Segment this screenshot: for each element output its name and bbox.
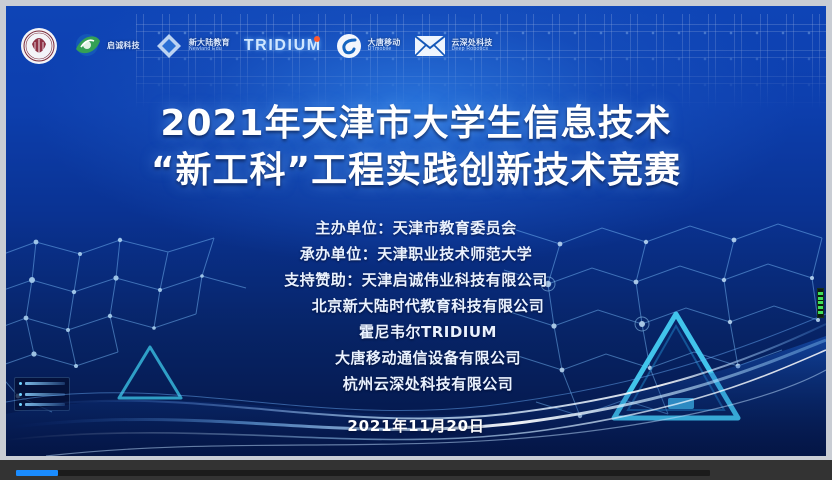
status-segment (818, 292, 823, 295)
screen: 启诚科技 新大陆教育 Newland Edu TRIDIUM (0, 0, 832, 480)
envelope-mark-icon (414, 35, 446, 57)
playback-progress-fill (16, 470, 58, 476)
university-seal-icon (20, 27, 58, 65)
status-segment (818, 301, 823, 304)
slide-credits-block: 主办单位：天津市教育委员会 承办单位：天津职业技术师范大学 支持赞助：天津启诚伟… (6, 215, 826, 436)
status-segment (818, 311, 823, 314)
slide-canvas: 启诚科技 新大陆教育 Newland Edu TRIDIUM (6, 6, 826, 456)
status-segment (818, 297, 823, 300)
credit-line-sponsor-5: 杭州云深处科技有限公司 (6, 371, 826, 397)
slide-title-line-2: “新工科”工程实践创新技术竞赛 (6, 148, 826, 194)
slide-title-line-1: 2021年天津市大学生信息技术 (6, 102, 826, 146)
credit-line-sponsor: 支持赞助：天津启诚伟业科技有限公司 (6, 267, 826, 293)
credit-line-sponsor-3: 霍尼韦尔TRIDIUM (6, 319, 826, 345)
logo-label-en: Newland Edu (189, 47, 230, 52)
sponsor-logo-bar: 启诚科技 新大陆教育 Newland Edu TRIDIUM (6, 20, 826, 72)
credit-line-organizer: 主办单位：天津市教育委员会 (6, 215, 826, 241)
logo-tridium: TRIDIUM (244, 26, 321, 66)
slide-frame: 启诚科技 新大陆教育 Newland Edu TRIDIUM (0, 0, 832, 460)
logo-label-en: Deep Robotics (451, 47, 492, 52)
credit-line-sponsor-2: 北京新大陆时代教育科技有限公司 (6, 293, 826, 319)
logo-qicheng-text: 启诚科技 (107, 42, 140, 50)
logo-label-cn: 启诚科技 (107, 42, 140, 50)
logo-tridium-wordmark: TRIDIUM (244, 37, 322, 55)
swirl-circle-icon (335, 32, 363, 60)
logo-deep-robotics: 云深处科技 Deep Robotics (414, 26, 492, 66)
slide-date: 2021年11月20日 (6, 415, 826, 436)
logo-newland-text: 新大陆教育 Newland Edu (189, 39, 230, 52)
status-indicator-strip (817, 288, 824, 318)
logo-label-en: DTmobile (368, 47, 401, 52)
logo-university-seal (20, 26, 58, 66)
credit-line-sponsor-4: 大唐移动通信设备有限公司 (6, 345, 826, 371)
logo-datang-mobile: 大唐移动 DTmobile (335, 26, 401, 66)
logo-qicheng: 启诚科技 (72, 26, 140, 66)
diamond-icon (154, 31, 184, 61)
slide-title-block: 2021年天津市大学生信息技术 “新工科”工程实践创新技术竞赛 (6, 102, 826, 194)
logo-deep-robotics-text: 云深处科技 Deep Robotics (451, 39, 492, 52)
playback-progress-track[interactable] (16, 470, 710, 476)
tridium-dot-icon (313, 35, 321, 43)
logo-datang-text: 大唐移动 DTmobile (368, 39, 401, 52)
credit-line-host: 承办单位：天津职业技术师范大学 (6, 241, 826, 267)
status-segment (818, 306, 823, 309)
logo-newland: 新大陆教育 Newland Edu (154, 26, 230, 66)
globe-swoosh-icon (72, 31, 102, 61)
